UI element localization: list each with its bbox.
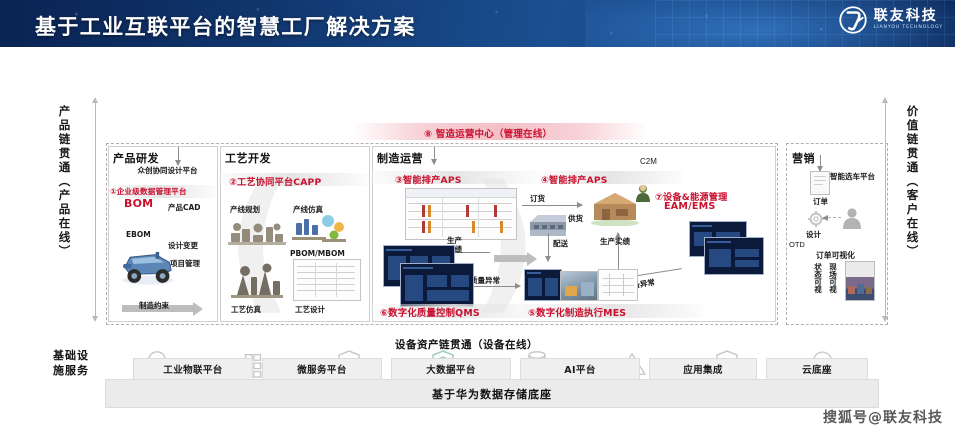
rd-panel-title: 产品研发 — [113, 150, 159, 166]
watermark: 搜狐号@联友科技 — [823, 407, 943, 427]
page-header: 基于工业互联平台的智慧工厂解决方案 联友科技 LIANYOU TECHNOLOG… — [0, 0, 955, 47]
left-scale-bar — [95, 102, 96, 317]
order-visual-photo — [845, 261, 875, 301]
order-arrow — [522, 205, 582, 206]
design-gear-icon — [807, 210, 825, 232]
order-flow-label: 订货 — [530, 194, 545, 203]
rd-red-title: ①企业级数据管理平台 — [110, 186, 187, 197]
supply-flow-label: 供货 — [568, 214, 583, 223]
process-red-title: ②工艺协同平台CAPP — [229, 174, 321, 188]
platform-ai[interactable]: AI平台 — [520, 358, 640, 380]
line-simulation-illustration — [292, 213, 348, 251]
rd-bom-label: BOM — [124, 197, 153, 210]
right-axis-label: 价值链贯通（客户在线） — [906, 105, 918, 259]
rd-item-cad: 产品CAD — [168, 203, 201, 212]
left-axis-label: 产品链贯通（产品在线） — [58, 105, 70, 259]
logo-name-cn: 联友科技 — [874, 9, 943, 23]
platform-bigdata[interactable]: 大数据平台 — [391, 358, 511, 380]
aps1-title: ③智能排产APS — [395, 172, 462, 186]
ops-center-banner-label: ⑧ 智造运营中心（管理在线） — [424, 126, 552, 140]
rd-subtitle: 众创协同设计平台 — [120, 166, 215, 175]
production-result-label-right: 生产实绩 — [600, 237, 630, 246]
site-visual-label: 现场可视 — [829, 263, 837, 293]
eam-dashboard-screenshot-b — [704, 237, 764, 275]
infra-label-box: 基础设施服务 — [52, 347, 90, 397]
rd-down-arrow — [178, 147, 179, 165]
engineer-avatar-icon — [635, 184, 651, 206]
marketing-panel-title: 营销 — [792, 150, 815, 166]
pbom-table-screenshot — [293, 259, 361, 301]
customer-avatar-icon — [842, 207, 862, 233]
c2m-label: C2M — [640, 157, 657, 167]
distribution-arrow — [548, 233, 549, 261]
eam-subtitle: EAM/EMS — [664, 201, 715, 212]
production-line-illustration — [228, 215, 286, 253]
logo-swirl-icon — [838, 5, 868, 35]
logistics-arrow — [494, 255, 528, 262]
base-storage-layer: 基于华为数据存储底座 — [105, 379, 879, 408]
vehicle-3d-model — [118, 241, 178, 291]
platform-iot[interactable]: 工业物联平台 — [133, 358, 253, 380]
order-doc-icon — [810, 171, 830, 195]
marketing-down-arrow — [820, 155, 821, 171]
platform-cloudbase[interactable]: 云底座 — [766, 358, 868, 380]
aps-gantt-screenshot — [405, 188, 517, 240]
process-simulation-illustration — [227, 261, 285, 305]
manufacturing-panel-title: 制造运营 — [377, 150, 423, 166]
diagram-stage: ( ) 产品链贯通（产品在线） 价值链贯通（客户在线） ⑧ 智造运营中心（管理在… — [0, 47, 955, 433]
order-label: 订单 — [813, 197, 828, 206]
platform-appintegration[interactable]: 应用集成 — [649, 358, 757, 380]
smart-car-platform-label: 智能选车平台 — [830, 172, 880, 181]
mes-screenshot-diagram — [524, 269, 562, 301]
process-item-planning: 产线规划 — [230, 205, 260, 214]
design-label: 设计 — [806, 230, 821, 239]
warehouse-building-icon — [588, 190, 642, 230]
manufacturing-down-arrow — [434, 147, 435, 164]
qms-dashboard-screenshot-b — [400, 263, 474, 307]
quality-abnormal-label: 质量异常 — [470, 276, 500, 285]
infra-label: 基础设施服务 — [52, 349, 90, 379]
brand-logo: 联友科技 LIANYOU TECHNOLOGY — [838, 5, 943, 35]
page-title: 基于工业互联平台的智慧工厂解决方案 — [35, 11, 416, 41]
design-feedback-arrow — [823, 217, 841, 218]
otd-label: OTD — [789, 240, 805, 249]
status-visual-label: 状态可视 — [814, 263, 822, 293]
process-panel-title: 工艺开发 — [225, 150, 271, 166]
mes-photo-workshop — [560, 271, 598, 301]
logo-name-en: LIANYOU TECHNOLOGY — [874, 26, 943, 31]
distribution-label: 配送 — [553, 239, 568, 248]
order-visual-title: 订单可视化 — [816, 251, 855, 261]
rd-item-ebom: EBOM — [126, 230, 151, 239]
aps2-title: ④智能排产APS — [541, 172, 608, 186]
platform-microservice[interactable]: 微服务平台 — [262, 358, 382, 380]
mes-screenshot-chart — [598, 269, 638, 301]
